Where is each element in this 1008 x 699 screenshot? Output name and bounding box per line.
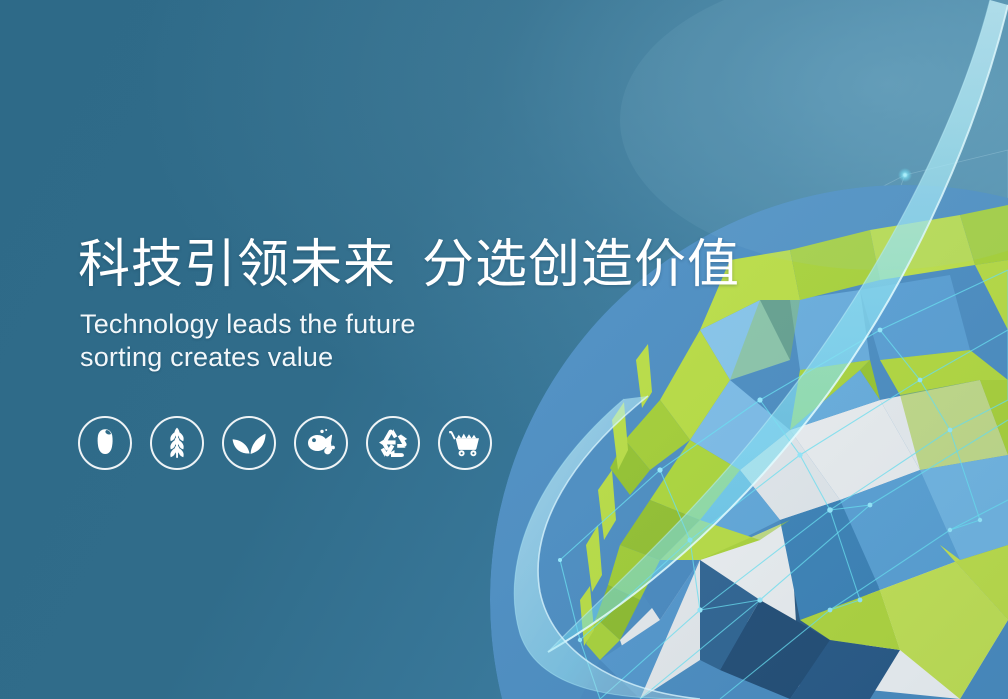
- icon-chip-fish[interactable]: [294, 416, 348, 470]
- hero-banner: 科技引领未来分选创造价值 Technology leads the future…: [0, 0, 1008, 699]
- page-title: 科技引领未来分选创造价值: [78, 236, 740, 294]
- headline-part-2: 分选创造价值: [422, 235, 740, 295]
- fish-icon: [305, 429, 337, 457]
- icon-chip-mining-cart[interactable]: [438, 416, 492, 470]
- headline-block: 科技引领未来分选创造价值 Technology leads the future…: [78, 236, 740, 374]
- globe-green-slivers: [580, 344, 652, 646]
- globe-mesh-nodes: [558, 328, 982, 643]
- mining-cart-icon: [448, 429, 482, 457]
- industry-icon-row: [78, 416, 492, 470]
- headline-part-1: 科技引领未来: [78, 235, 396, 295]
- wheat-icon: [162, 427, 192, 459]
- icon-chip-recycle[interactable]: [366, 416, 420, 470]
- globe-facets-navy: [700, 560, 900, 699]
- icon-chip-leaf[interactable]: [222, 416, 276, 470]
- recycle-icon: [378, 428, 408, 458]
- page-subtitle: Technology leads the future sorting crea…: [80, 308, 740, 374]
- subtitle-line-1: Technology leads the future: [80, 308, 740, 341]
- subtitle-line-2: sorting creates value: [80, 341, 740, 374]
- network-mesh-lines: [600, 150, 1008, 660]
- globe-facets-white: [620, 380, 1008, 699]
- icon-chip-wheat[interactable]: [150, 416, 204, 470]
- leaf-icon: [232, 429, 266, 457]
- orbital-ring: [514, 396, 700, 699]
- rice-grain-icon: [92, 428, 118, 458]
- icon-chip-rice-grain[interactable]: [78, 416, 132, 470]
